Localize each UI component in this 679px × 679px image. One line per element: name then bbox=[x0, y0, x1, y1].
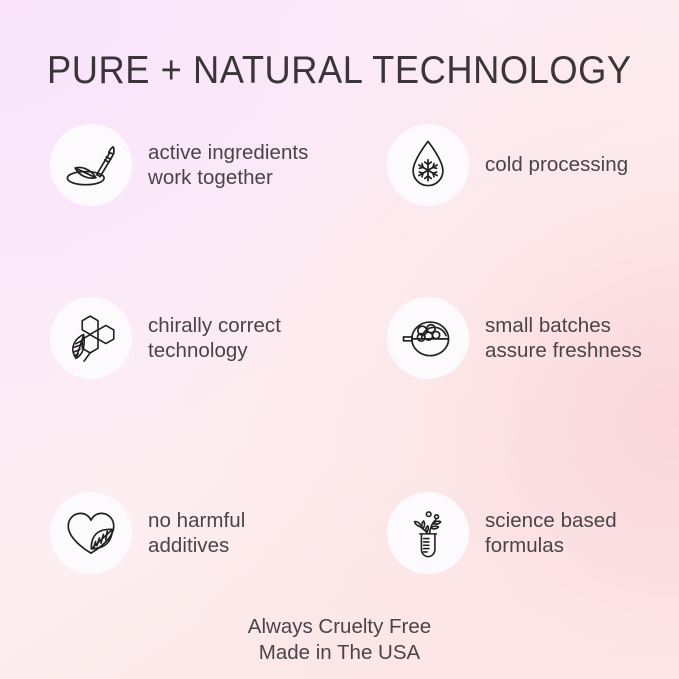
icon-circle bbox=[50, 297, 132, 379]
feature-grid: active ingredients work together bbox=[0, 124, 679, 604]
page-title: PURE + NATURAL TECHNOLOGY bbox=[47, 48, 632, 94]
feature-item-no-harmful-additives: no harmful additives bbox=[50, 492, 245, 574]
dropper-leaf-dish-icon bbox=[63, 137, 119, 193]
icon-circle bbox=[387, 297, 469, 379]
feature-item-active-ingredients: active ingredients work together bbox=[50, 124, 308, 206]
feature-label: small batches assure freshness bbox=[485, 313, 642, 364]
feature-item-small-batches: small batches assure freshness bbox=[387, 297, 642, 379]
molecule-hexagons-leaf-icon bbox=[63, 310, 119, 366]
droplet-snowflake-icon bbox=[400, 137, 456, 193]
feature-label: active ingredients work together bbox=[148, 140, 308, 191]
feature-label: chirally correct technology bbox=[148, 313, 281, 364]
feature-item-cold-processing: cold processing bbox=[387, 124, 628, 206]
feature-item-chirally-correct: chirally correct technology bbox=[50, 297, 281, 379]
heart-leaf-icon bbox=[63, 505, 119, 561]
feature-label: no harmful additives bbox=[148, 508, 245, 559]
title-block: PURE + NATURAL TECHNOLOGY bbox=[0, 22, 679, 120]
spoon-ingredients-icon bbox=[400, 310, 456, 366]
infographic-poster: PURE + NATURAL TECHNOLOGY bbox=[0, 0, 679, 679]
test-tube-plant-icon bbox=[400, 505, 456, 561]
footer-text: Always Cruelty Free Made in The USA bbox=[0, 614, 679, 665]
icon-circle bbox=[387, 492, 469, 574]
feature-label: science based formulas bbox=[485, 508, 617, 559]
icon-circle bbox=[50, 124, 132, 206]
icon-circle bbox=[387, 124, 469, 206]
feature-item-science-based-formulas: science based formulas bbox=[387, 492, 617, 574]
icon-circle bbox=[50, 492, 132, 574]
feature-label: cold processing bbox=[485, 152, 628, 178]
